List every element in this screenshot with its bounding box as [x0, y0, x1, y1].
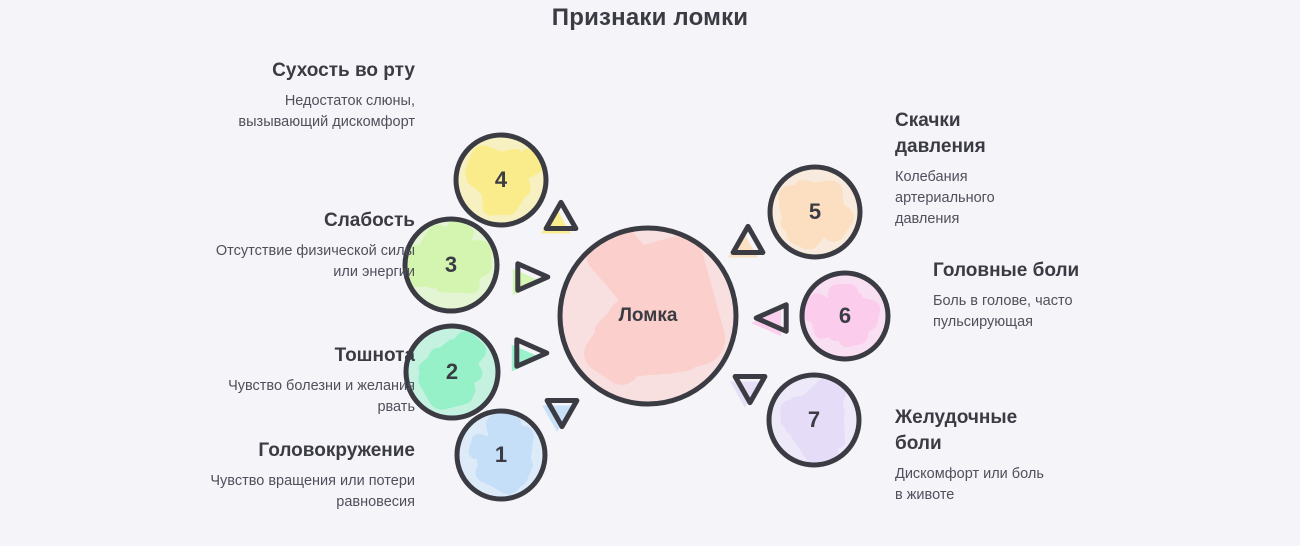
- symptom-block-3: СлабостьОтсутствие физической силы или э…: [205, 208, 415, 283]
- node-circle-2[interactable]: [406, 326, 498, 418]
- arrow-7: [730, 377, 765, 408]
- node-circle-3[interactable]: [403, 218, 497, 311]
- symptom-description-4: Недостаток слюны, вызывающий дискомфорт: [205, 91, 415, 133]
- symptom-description-1: Чувство вращения или потери равновесия: [185, 471, 415, 513]
- symptom-heading-6: Головные боли: [933, 258, 1083, 284]
- symptom-description-2: Чувство болезни и желания рвать: [195, 376, 415, 418]
- smear-stroke: [818, 390, 845, 450]
- node-circle-7[interactable]: [769, 371, 859, 472]
- center-node: [560, 219, 736, 404]
- arrow-4: [541, 202, 576, 233]
- arrow-1: [542, 401, 577, 432]
- node-circle-1[interactable]: [457, 408, 545, 499]
- symptom-description-6: Боль в голове, часто пульсирующая: [933, 291, 1083, 333]
- arrow-3: [513, 264, 548, 295]
- node-circle-4[interactable]: [456, 135, 551, 225]
- symptom-block-4: Сухость во ртуНедостаток слюны, вызывающ…: [205, 58, 415, 133]
- symptom-block-7: Желудочные болиДискомфорт или боль в жив…: [895, 405, 1045, 506]
- infographic-canvas: Признаки ломки 1234567Ломка Сухость во р…: [0, 0, 1300, 546]
- symptom-heading-2: Тошнота: [195, 343, 415, 369]
- symptom-heading-4: Сухость во рту: [205, 58, 415, 84]
- arrow-6: [751, 305, 786, 336]
- symptom-heading-3: Слабость: [205, 208, 415, 234]
- symptom-block-6: Головные болиБоль в голове, часто пульси…: [933, 258, 1083, 333]
- smear-stroke: [431, 240, 491, 277]
- symptom-heading-7: Желудочные боли: [895, 405, 1045, 457]
- symptom-heading-1: Головокружение: [185, 438, 415, 464]
- symptom-heading-5: Скачки давления: [895, 108, 1045, 160]
- arrow-2: [512, 340, 547, 371]
- symptom-description-7: Дискомфорт или боль в животе: [895, 464, 1045, 506]
- symptom-block-5: Скачки давленияКолебания артериального д…: [895, 108, 1045, 230]
- node-circle-5[interactable]: [770, 167, 860, 257]
- symptom-description-3: Отсутствие физической силы или энергии: [205, 241, 415, 283]
- node-circle-6[interactable]: [799, 273, 888, 359]
- symptom-description-5: Колебания артериального давления: [895, 167, 1045, 230]
- arrow-5: [728, 226, 763, 257]
- symptom-block-1: ГоловокружениеЧувство вращения или потер…: [185, 438, 415, 513]
- symptom-block-2: ТошнотаЧувство болезни и желания рвать: [195, 343, 415, 418]
